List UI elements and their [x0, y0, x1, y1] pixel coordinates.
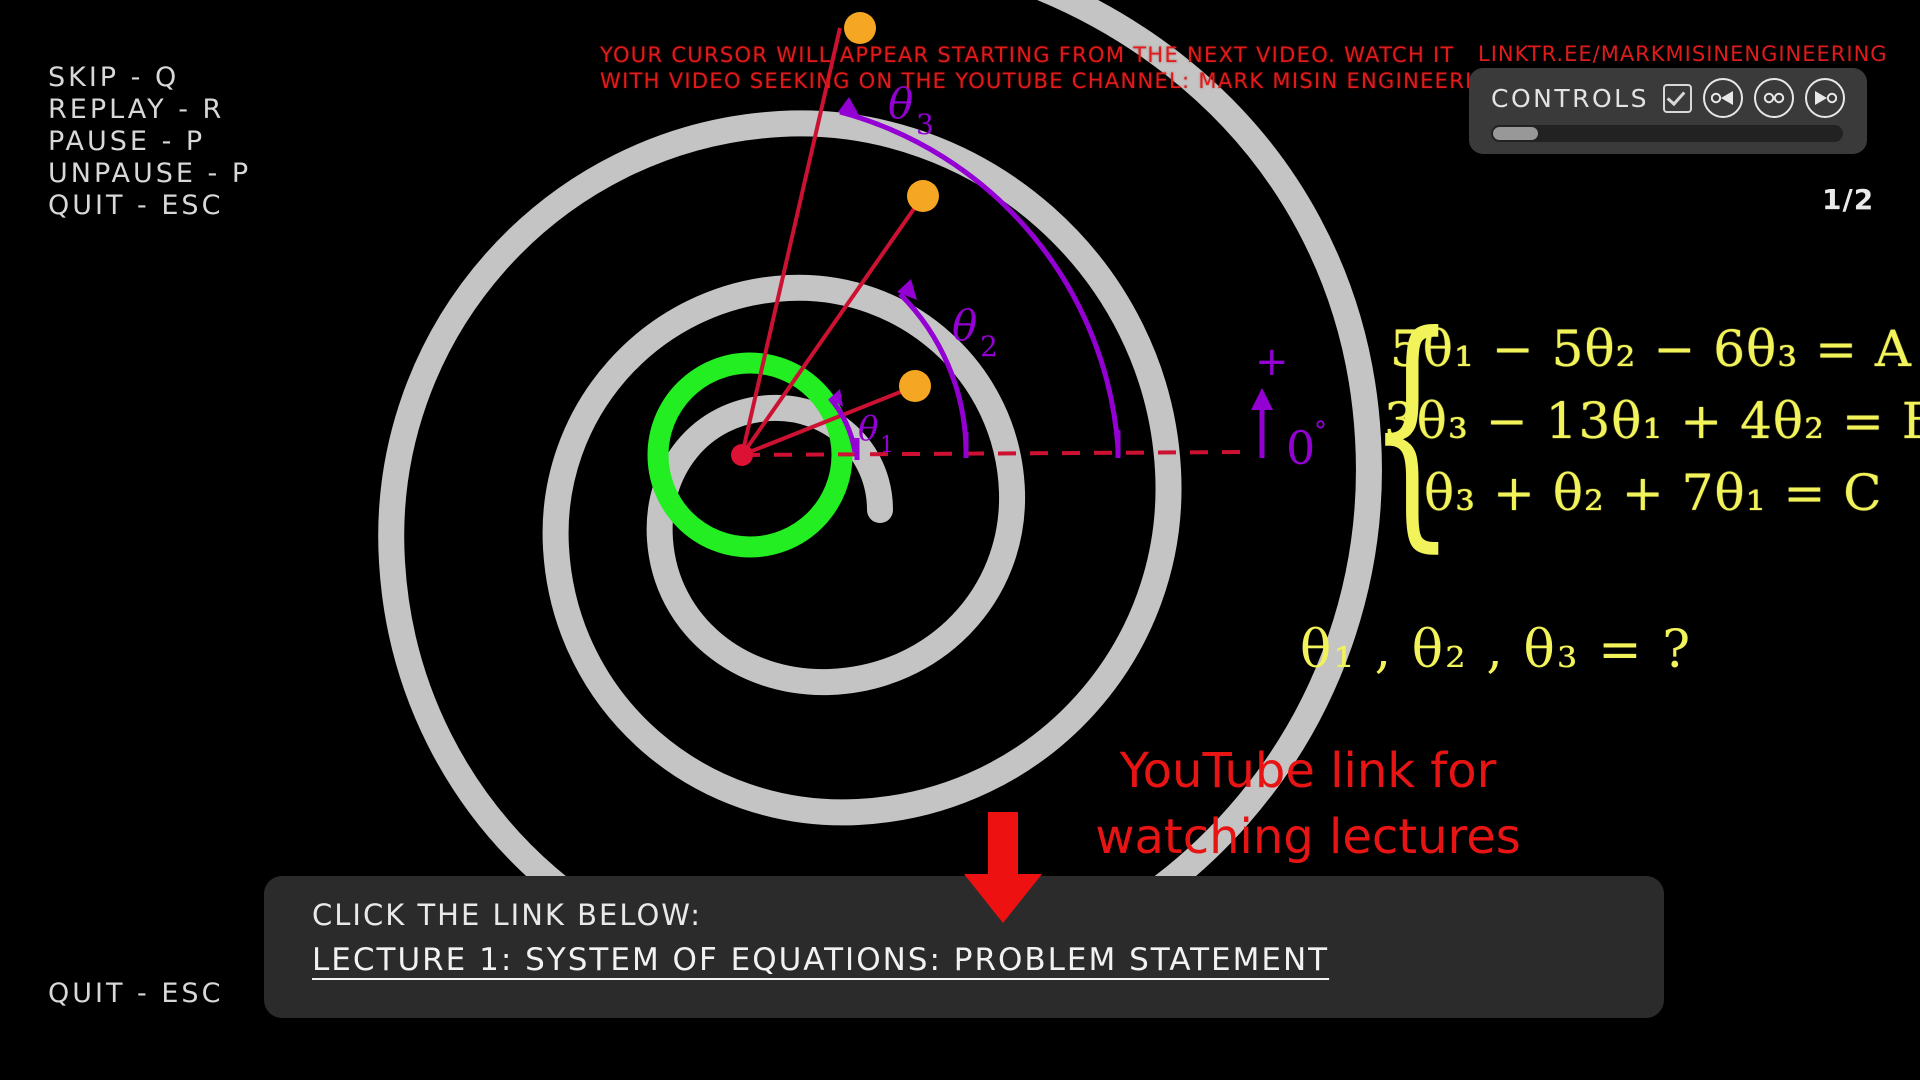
zero-degree-symbol: ° — [1314, 417, 1327, 447]
youtube-note: YouTube link for watching lectures — [1058, 738, 1558, 870]
equation-system: 5θ₁ − 5θ₂ − 6θ₃ = A 3θ₃ − 13θ₁ + 4θ₂ = B… — [1368, 320, 1920, 536]
linktree-url[interactable]: LINKTR.EE/MARKMISINENGINEERING — [1478, 42, 1888, 66]
lecture-link[interactable]: LECTURE 1: SYSTEM OF EQUATIONS: PROBLEM … — [312, 942, 1329, 978]
rewind-icon — [1711, 90, 1735, 106]
label-theta2: θ — [952, 301, 977, 350]
click-below-label: CLICK THE LINK BELOW: — [312, 898, 1329, 932]
marker-theta3 — [844, 12, 876, 44]
equation-line-2: 3θ₃ − 13θ₁ + 4θ₂ = B — [1384, 392, 1920, 450]
cursor-notice: YOUR CURSOR WILL APPEAR STARTING FROM TH… — [600, 42, 1515, 94]
controls-row: CONTROLS — [1491, 78, 1851, 118]
label-theta2-sub: 2 — [980, 330, 998, 363]
page-indicator: 1/2 — [1822, 183, 1874, 216]
cursor-notice-line1: YOUR CURSOR WILL APPEAR STARTING FROM TH… — [600, 42, 1515, 68]
zero-degree-label: 0 — [1286, 421, 1315, 475]
label-theta1-sub: 1 — [880, 433, 894, 458]
red-down-arrow-icon — [962, 812, 1044, 924]
pause-icon — [1763, 90, 1785, 106]
bottom-link-panel-inner: CLICK THE LINK BELOW: LECTURE 1: SYSTEM … — [312, 898, 1329, 978]
slide-stage: θ 1 θ 2 θ 3 + 0 ° SKIP - Q REPLAY - R PA… — [0, 0, 1920, 1080]
controls-panel[interactable]: CONTROLS — [1469, 68, 1867, 154]
marker-theta1 — [899, 370, 931, 402]
rewind-button[interactable] — [1703, 78, 1743, 118]
unknowns-line: θ₁ , θ₂ , θ₃ = ? — [1300, 620, 1692, 680]
cursor-notice-line2: WITH VIDEO SEEKING ON THE YOUTUBE CHANNE… — [600, 68, 1515, 94]
zero-arrow-head — [1251, 388, 1273, 410]
label-theta3-sub: 3 — [916, 108, 934, 141]
youtube-note-line2: watching lectures — [1058, 804, 1558, 870]
seek-bar[interactable] — [1491, 125, 1843, 142]
label-theta1: θ — [858, 409, 878, 449]
plus-sign: + — [1255, 339, 1289, 385]
seek-handle[interactable] — [1493, 127, 1538, 140]
pause-button[interactable] — [1754, 78, 1794, 118]
equation-line-1: 5θ₁ − 5θ₂ − 6θ₃ = A — [1390, 320, 1920, 378]
youtube-note-line1: YouTube link for — [1058, 738, 1558, 804]
fast-forward-button[interactable] — [1805, 78, 1845, 118]
controls-checkbox[interactable] — [1663, 84, 1692, 113]
marker-theta2 — [907, 180, 939, 212]
fast-forward-icon — [1813, 90, 1837, 106]
equation-line-3: θ₃ + θ₂ + 7θ₁ = C — [1424, 464, 1920, 522]
controls-label: CONTROLS — [1491, 84, 1649, 113]
center-dot — [731, 444, 753, 466]
